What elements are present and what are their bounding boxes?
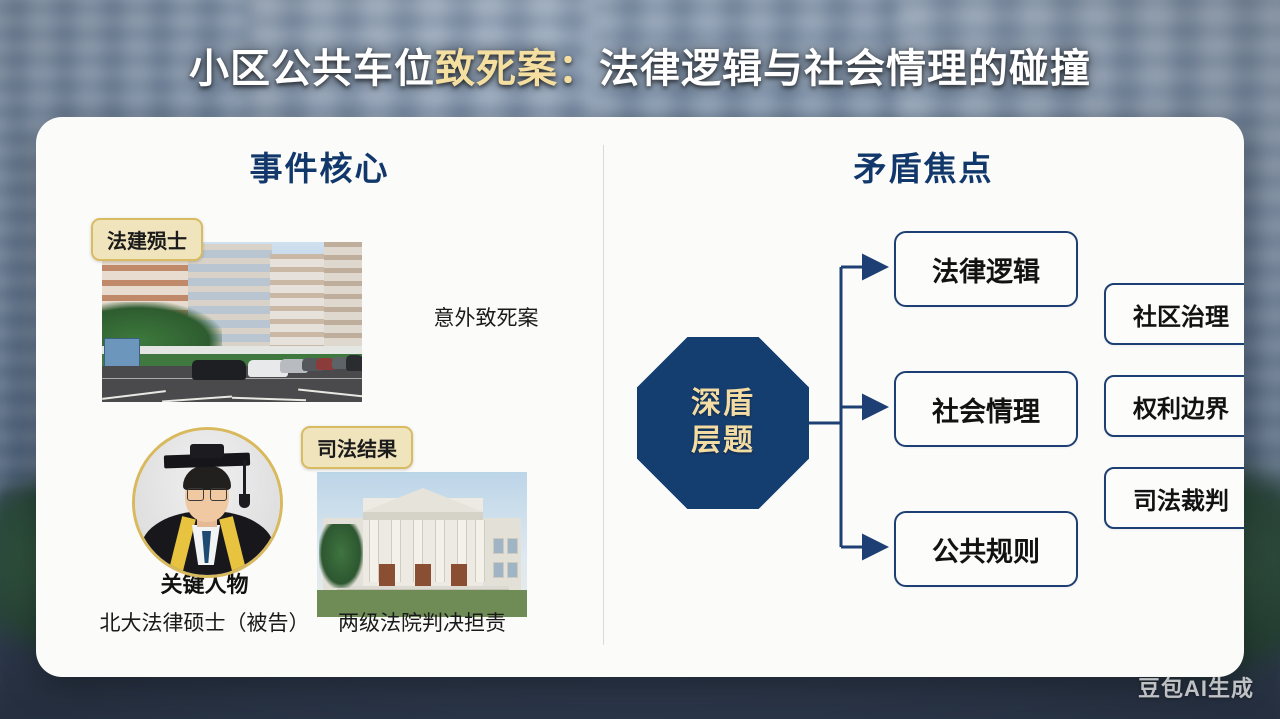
content-card: 事件核心 法建殒士 意外致死案 司法结果 <box>36 117 1244 677</box>
slide-title: 小区公共车位致死案：法律逻辑与社会情理的碰撞 <box>0 36 1280 94</box>
courthouse-photo <box>317 472 527 617</box>
branch-node-legal-logic[interactable]: 法律逻辑 <box>894 231 1078 307</box>
badge-judicial-result: 司法结果 <box>301 426 413 469</box>
branch-node-social-sentiment[interactable]: 社会情理 <box>894 371 1078 447</box>
conflict-diagram: 深盾 层题 法律逻辑 社会情理 公共规则 社区治理 权利边界 司法裁判 <box>603 117 1244 677</box>
side-tag-community-governance[interactable]: 社区治理 <box>1104 283 1244 345</box>
slide-title-part-3: 法律逻辑与社会情理的碰撞 <box>599 47 1091 91</box>
left-panel-heading: 事件核心 <box>36 142 603 190</box>
ai-watermark: 豆包AI生成 <box>1138 671 1254 703</box>
incident-label: 意外致死案 <box>392 302 580 332</box>
person-caption-subtitle: 北大法律硕士（被告） <box>66 607 343 637</box>
badge-law-graduate: 法建殒士 <box>91 218 203 261</box>
side-tag-rights-boundary[interactable]: 权利边界 <box>1104 375 1244 437</box>
branch-node-public-rules[interactable]: 公共规则 <box>894 511 1078 587</box>
court-caption-subtitle: 两级法院判决担责 <box>317 607 527 637</box>
residential-parking-lot-photo <box>102 242 362 402</box>
center-node-line-1: 深盾 <box>691 386 755 423</box>
center-node-octagon[interactable]: 深盾 层题 <box>637 337 809 509</box>
graduate-portrait-avatar <box>132 427 283 578</box>
slide-title-part-2: 致死案： <box>435 47 599 91</box>
center-node-line-2: 层题 <box>691 423 755 460</box>
side-tag-judicial-ruling[interactable]: 司法裁判 <box>1104 467 1244 529</box>
slide-title-part-1: 小区公共车位 <box>189 47 435 91</box>
